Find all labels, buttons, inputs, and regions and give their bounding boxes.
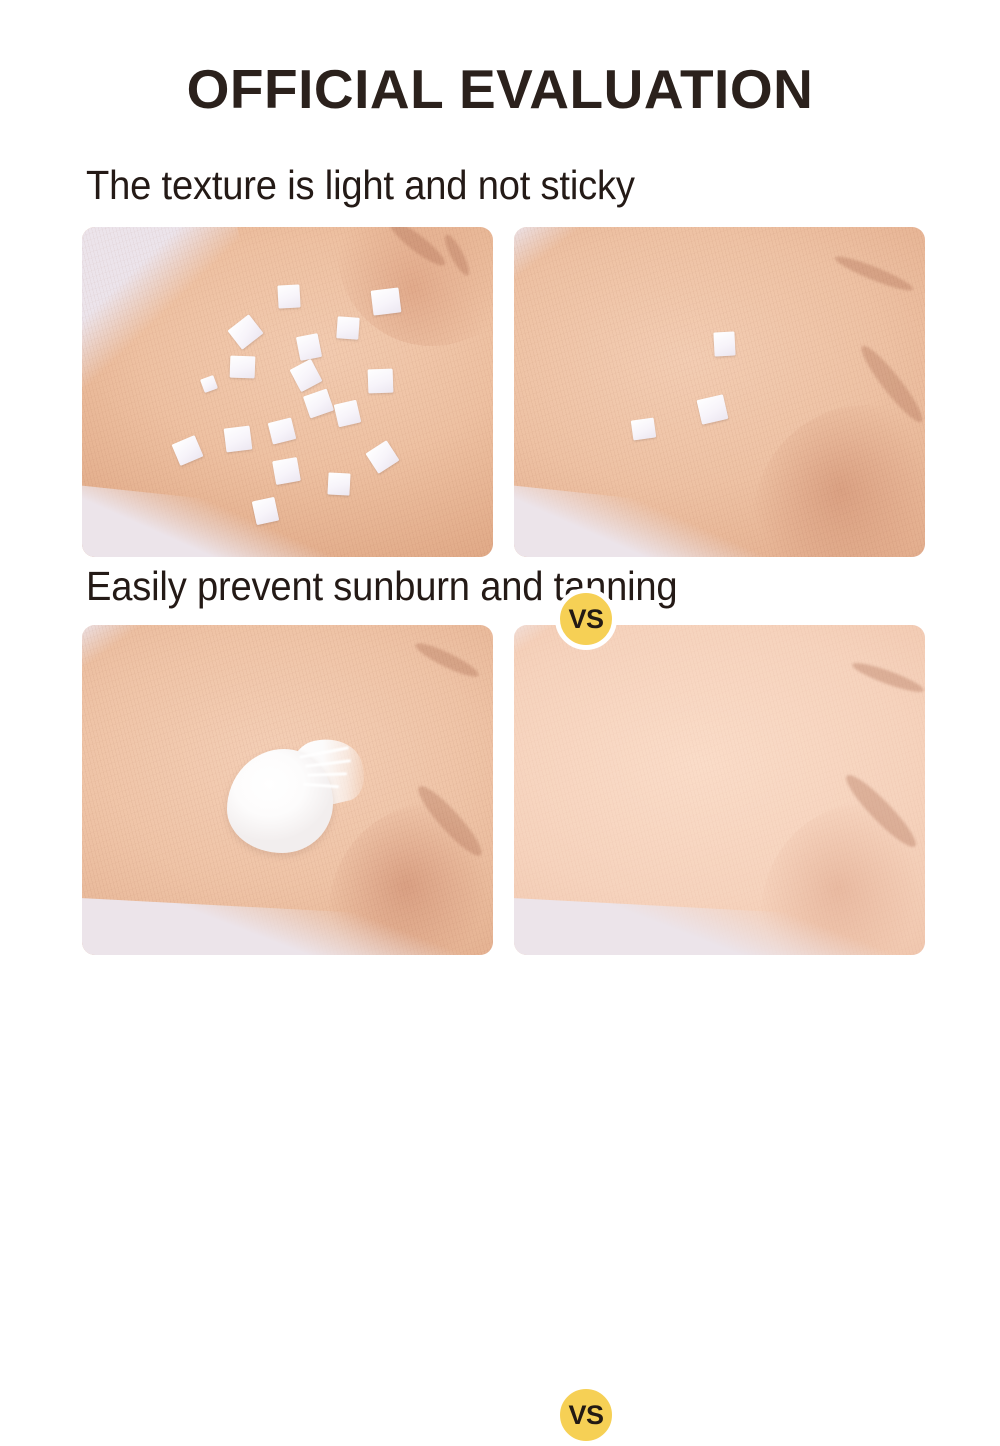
comparison-row-texture: VS (82, 227, 925, 557)
cream-flake (224, 426, 253, 453)
photo-absorbed-clean (514, 625, 925, 955)
vs-label: VS (568, 606, 603, 633)
vs-badge-texture: VS (555, 588, 617, 650)
vs-label: VS (568, 1402, 603, 1429)
photo-many-flakes (82, 227, 493, 557)
cream-flake (296, 333, 322, 361)
photo-cream-swatch (82, 625, 493, 955)
page-title: OFFICIAL EVALUATION (0, 62, 1000, 117)
cream-flake (368, 369, 394, 394)
cream-flake (252, 497, 279, 525)
photo-few-flakes (514, 227, 925, 557)
cream-flake (272, 457, 301, 485)
evaluation-page: OFFICIAL EVALUATION The texture is light… (0, 0, 1000, 1000)
cream-flake (230, 356, 256, 379)
comparison-row-sunburn: VS (82, 625, 925, 955)
cream-flake (713, 331, 735, 356)
cream-flake (336, 316, 359, 339)
cream-flake (327, 472, 350, 495)
cream-swatch (227, 735, 362, 855)
section-heading-texture: The texture is light and not sticky (86, 165, 635, 206)
cream-flake (631, 417, 657, 440)
cream-flake (371, 287, 402, 315)
cream-flake (277, 284, 300, 308)
vs-badge-sunburn: VS (555, 1384, 617, 1446)
